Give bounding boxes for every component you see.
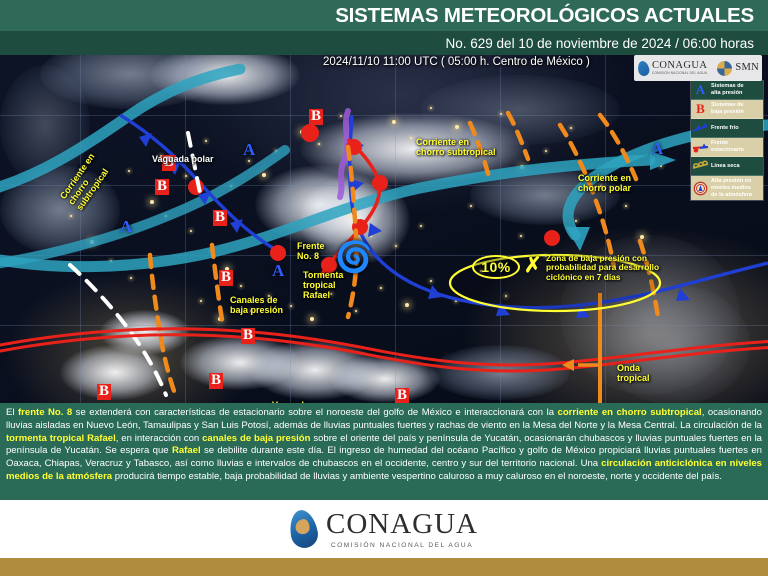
cyclone-center-x-icon: ✗: [524, 255, 542, 276]
warm-front-bump: [372, 175, 388, 191]
low-pressure-mark: B: [97, 384, 111, 400]
grid-line: [0, 325, 768, 326]
warm-front-bump: [352, 219, 368, 235]
low-pressure-mark: B: [309, 109, 323, 125]
header-title-bar: SISTEMAS METEOROLÓGICOS ACTUALES: [0, 0, 768, 31]
low-pressure-mark: B: [219, 270, 233, 286]
high-pressure-mark: A: [243, 141, 255, 158]
cold-front-barb: [351, 141, 364, 155]
weather-systems-overlay: [0, 55, 768, 403]
annotation-canales-baja-presion: Canales de baja presión: [230, 295, 304, 315]
page-title: SISTEMAS METEOROLÓGICOS ACTUALES: [335, 4, 754, 28]
warm-front-bump: [188, 179, 204, 195]
cloud-mass: [150, 55, 300, 105]
tropical-storm-symbol: 🌀: [335, 243, 372, 273]
jet-stream-subtropical-west: [0, 69, 240, 190]
warm-front-bump: [301, 124, 319, 142]
annotation-onda-tropical: Onda tropical: [617, 363, 667, 383]
low-pressure-mark: B: [395, 388, 409, 403]
grid-line: [185, 55, 186, 403]
footer-accent-bar: [0, 558, 768, 576]
cloud-mass: [250, 340, 380, 400]
cloud-mass: [430, 345, 570, 400]
annotation-tormenta-tropical-rafael: Tormenta tropical Rafael: [303, 270, 363, 300]
cyclone-probability-badge: 10%: [472, 255, 520, 279]
legend-label: Línea seca: [710, 161, 742, 172]
monsoon-trough-line-1: [0, 329, 768, 365]
cold-front-barb: [230, 219, 243, 233]
warm-front-bump: [270, 245, 286, 261]
cold-front-barb: [198, 191, 211, 205]
cold-front-barb: [576, 305, 590, 318]
cloud-mass: [100, 310, 190, 355]
legend-item-stationary-front: Frente estacionario: [691, 138, 763, 157]
smn-logo: SMN: [717, 61, 759, 76]
cold-front-icon: [691, 119, 710, 137]
city-lights-layer: [0, 55, 768, 403]
cloud-mass: [60, 345, 170, 400]
description-highlight: Rafael: [172, 445, 201, 456]
grid-line: [80, 55, 81, 403]
description-text: producirá tiempo estable, baja probabili…: [112, 471, 722, 482]
warm-front-bump: [346, 139, 362, 155]
cloud-mass: [600, 285, 750, 403]
cloud-mass: [560, 235, 740, 395]
cold-front-barb: [139, 133, 152, 147]
low-pressure-mark: B: [213, 210, 227, 226]
utc-timestamp: 2024/11/10 11:00 UTC ( 05:00 h. Centro d…: [323, 56, 590, 68]
grid-line: [500, 55, 501, 403]
mid-level-high-icon: [691, 179, 710, 197]
legend-item-high-pressure: A Sistemas de alta presión: [691, 81, 763, 100]
cloud-mass: [470, 165, 620, 225]
description-highlight: canales de baja presión: [202, 433, 310, 444]
low-pressure-mark: B: [162, 155, 176, 171]
cold-front-barb: [496, 303, 510, 316]
high-pressure-mark: A: [120, 218, 132, 235]
description-highlight: frente No. 8: [18, 407, 72, 418]
grid-line: [395, 55, 396, 403]
weather-bulletin-page: SISTEMAS METEOROLÓGICOS ACTUALES No. 629…: [0, 0, 768, 576]
conagua-logo-text: CONAGUA: [652, 61, 707, 72]
legend-item-low-pressure: B Sistemas de baja presión: [691, 100, 763, 119]
cloud-mass: [0, 165, 120, 255]
satellite-weather-map[interactable]: A A A A B B B B B B B B B 🌀 10% ✗ Vaguad…: [0, 55, 768, 403]
bulletin-number: No. 629 del 10 de noviembre de 2024 / 06…: [446, 36, 754, 51]
cold-front-barb: [368, 223, 382, 237]
low-pressure-mark: B: [155, 179, 169, 195]
description-highlight: tormenta tropical Rafael: [6, 433, 116, 444]
low-pressure-icon: B: [691, 100, 710, 118]
footer-branding: CONAGUA COMISIÓN NACIONAL DEL AGUA: [0, 500, 768, 558]
upper-level-trough: [340, 111, 348, 197]
high-pressure-icon: A: [691, 81, 710, 99]
annotation-corriente-chorro-subtropical-este: Corriente en chorro subtropical: [416, 137, 516, 157]
grid-line: [290, 55, 291, 403]
tropical-wave-arrow-head: [562, 359, 574, 371]
low-pressure-mark: B: [209, 373, 223, 389]
jet-stream-subtropical-west-2: [0, 150, 285, 265]
legend-item-dry-line: Línea seca: [691, 157, 763, 176]
cloud-mass: [300, 113, 530, 185]
high-pressure-mark: A: [651, 140, 663, 157]
smn-seal-icon: [717, 61, 732, 76]
footer-brand-name: CONAGUA: [326, 510, 478, 539]
cold-front-barb: [428, 285, 442, 299]
dry-line-icon: [691, 157, 710, 175]
annotation-corriente-chorro-polar: Corriente en chorro polar: [578, 173, 664, 193]
grid-line: [0, 115, 768, 116]
legend-item-mid-level-high: Alta presión en niveles medios de la atm…: [691, 176, 763, 200]
monsoon-trough-line-2: [0, 335, 768, 371]
grid-line: [0, 255, 768, 256]
cloud-mass: [420, 75, 620, 145]
footer-tagline: COMISIÓN NACIONAL DEL AGUA: [326, 542, 478, 549]
cloud-mass: [0, 65, 90, 185]
conagua-water-drop-icon: [287, 508, 320, 550]
conagua-logo-subtext: COMISIÓN NACIONAL DEL AGUA: [652, 72, 707, 75]
legend-symbol-B: B: [696, 101, 705, 117]
jet-arrow-head: [566, 227, 590, 251]
forecast-description: El frente No. 8 se extenderá con caracte…: [0, 403, 768, 500]
agency-logos: CONAGUA COMISIÓN NACIONAL DEL AGUA SMN: [634, 55, 762, 81]
cloud-mass: [180, 335, 300, 390]
legend-label: Alta presión en niveles medios de la atm…: [710, 176, 754, 200]
cold-front-line: [120, 115, 278, 251]
cold-front-barb: [676, 288, 690, 301]
annotation-zona-baja-presion: Zona de baja presión con probabilidad pa…: [546, 254, 696, 282]
cloud-mass: [255, 165, 385, 245]
legend-label: Frente frío: [710, 123, 741, 134]
description-highlight: corriente en chorro subtropical: [558, 407, 702, 418]
conagua-logo: CONAGUA COMISIÓN NACIONAL DEL AGUA: [638, 61, 707, 76]
dry-line: [70, 133, 200, 395]
description-text: se extenderá con características de esta…: [72, 407, 557, 418]
cloud-mass: [330, 355, 440, 403]
stationary-front-icon: [691, 138, 710, 156]
header-subtitle-bar: No. 629 del 10 de noviembre de 2024 / 06…: [0, 31, 768, 55]
low-pressure-channels: [150, 113, 658, 391]
cold-front-barb: [351, 179, 364, 193]
low-pressure-mark: B: [241, 328, 255, 344]
map-legend: A Sistemas de alta presión B Sistemas de…: [690, 80, 764, 201]
legend-label: Sistemas de alta presión: [710, 81, 746, 99]
water-drop-icon: [637, 60, 651, 77]
grid-line: [0, 185, 768, 186]
grid-line: [605, 55, 606, 403]
annotation-corriente-chorro-subtropical-oeste: Corriente en chorro subtropical: [58, 146, 117, 212]
cloud-mass: [40, 55, 220, 109]
description-text: , en interacción con: [116, 433, 202, 444]
high-pressure-mark: A: [272, 262, 284, 279]
legend-item-cold-front: Frente frío: [691, 119, 763, 138]
legend-label: Sistemas de baja presión: [710, 100, 746, 118]
jet-stream-subtropical-east: [0, 160, 650, 267]
warm-front-bump: [544, 230, 560, 246]
description-text: El: [6, 407, 18, 418]
smn-logo-text: SMN: [735, 63, 759, 74]
legend-label: Frente estacionario: [710, 138, 746, 156]
legend-symbol-A: A: [696, 82, 705, 98]
